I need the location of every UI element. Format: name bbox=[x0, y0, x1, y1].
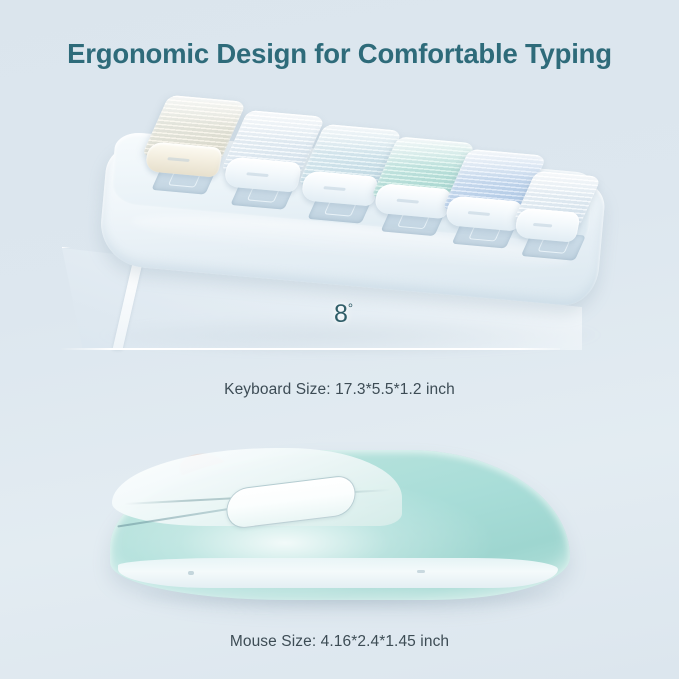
degree-symbol: ° bbox=[348, 301, 353, 316]
mouse-size-caption: Mouse Size: 4.16*2.4*1.45 inch bbox=[0, 633, 679, 651]
desk-surface-line bbox=[60, 348, 560, 350]
key-front-face bbox=[373, 183, 453, 219]
key-front-face bbox=[513, 208, 581, 243]
key-column-white-right bbox=[521, 168, 593, 246]
key-front-face bbox=[444, 195, 524, 231]
mouse-base-rim bbox=[118, 558, 558, 588]
tilt-angle-label: 8° bbox=[334, 300, 353, 329]
keyboard-illustration: 8° bbox=[60, 100, 630, 365]
key-front-face bbox=[144, 141, 224, 177]
mouse-illustration bbox=[110, 440, 590, 620]
tilt-angle-value: 8 bbox=[334, 300, 348, 328]
keyboard-size-caption: Keyboard Size: 17.3*5.5*1.2 inch bbox=[0, 381, 679, 399]
product-feature-image: Ergonomic Design for Comfortable Typing bbox=[0, 0, 679, 679]
page-title: Ergonomic Design for Comfortable Typing bbox=[0, 38, 679, 70]
key-front-face bbox=[223, 157, 303, 193]
key-front-face bbox=[300, 170, 380, 206]
